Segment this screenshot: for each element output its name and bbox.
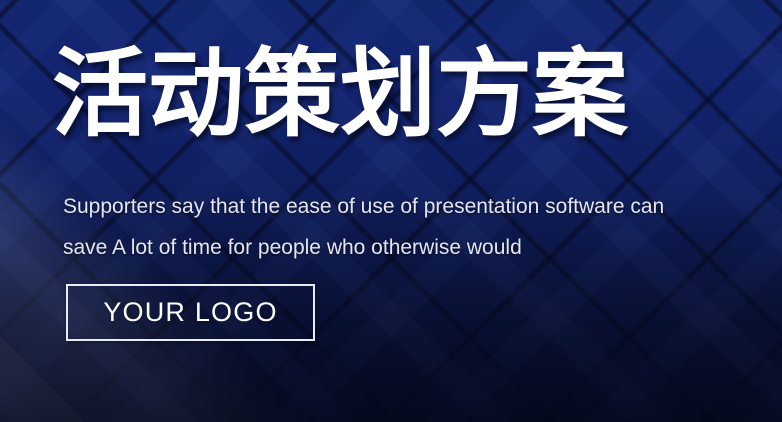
subtitle-line-2: save A lot of time for people who otherw… xyxy=(63,227,763,268)
slide-subtitle: Supporters say that the ease of use of p… xyxy=(63,186,763,268)
presentation-slide: 活动策划方案 Supporters say that the ease of u… xyxy=(0,0,782,422)
subtitle-line-1: Supporters say that the ease of use of p… xyxy=(63,186,763,227)
slide-content: 活动策划方案 Supporters say that the ease of u… xyxy=(0,0,782,422)
logo-placeholder-label: YOUR LOGO xyxy=(103,297,277,328)
logo-placeholder-box[interactable]: YOUR LOGO xyxy=(66,284,315,341)
slide-title: 活动策划方案 xyxy=(52,47,628,143)
